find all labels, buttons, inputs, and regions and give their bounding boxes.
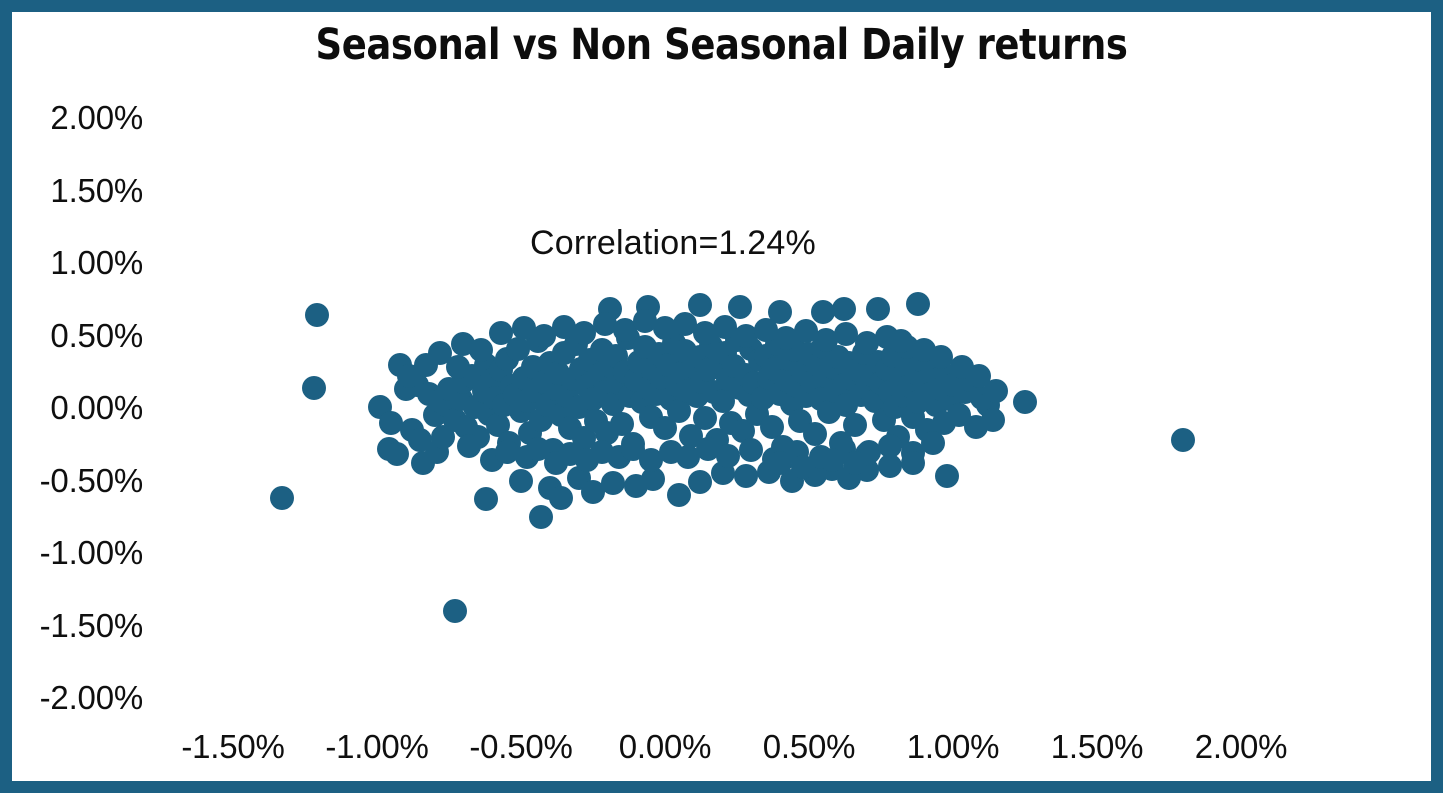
scatter-point xyxy=(518,421,542,445)
scatter-point xyxy=(809,445,833,469)
scatter-point xyxy=(497,431,521,455)
scatter-point xyxy=(569,357,593,381)
correlation-annotation: Correlation=1.24% xyxy=(530,224,816,263)
scatter-point xyxy=(561,367,585,391)
page-title: Seasonal vs Non Seasonal Daily returns xyxy=(111,20,1331,70)
scatter-point xyxy=(935,364,959,388)
scatter-point xyxy=(492,393,516,417)
scatter-point xyxy=(474,487,498,511)
scatter-point xyxy=(791,455,815,479)
scatter-point xyxy=(616,326,640,350)
scatter-point xyxy=(820,448,844,472)
scatter-point xyxy=(780,392,804,416)
scatter-point xyxy=(512,366,536,390)
scatter-point xyxy=(722,354,746,378)
scatter-point xyxy=(428,341,452,365)
scatter-point xyxy=(734,324,758,348)
scatter-point xyxy=(892,384,916,408)
scatter-point xyxy=(379,411,403,435)
scatter-point xyxy=(618,384,642,408)
scatter-point xyxy=(866,350,890,374)
scatter-point xyxy=(647,342,671,366)
scatter-point xyxy=(650,366,674,390)
scatter-point xyxy=(964,415,988,439)
scatter-point xyxy=(679,424,703,448)
scatter-point xyxy=(898,374,922,398)
scatter-point xyxy=(820,355,844,379)
scatter-point xyxy=(457,434,481,458)
scatter-point xyxy=(538,351,562,375)
scatter-point xyxy=(601,392,625,416)
scatter-point xyxy=(593,312,617,336)
scatter-point xyxy=(809,387,833,411)
scatter-point xyxy=(535,393,559,417)
scatter-point xyxy=(886,425,910,449)
scatter-point xyxy=(581,480,605,504)
scatter-point xyxy=(385,442,409,466)
scatter-point xyxy=(549,403,573,427)
scatter-point xyxy=(621,437,645,461)
scatter-point xyxy=(483,386,507,410)
scatter-point xyxy=(682,355,706,379)
scatter-point xyxy=(777,347,801,371)
scatter-point xyxy=(1013,390,1037,414)
scatter-point xyxy=(716,444,740,468)
scatter-point xyxy=(521,355,545,379)
scatter-point xyxy=(480,448,504,472)
scatter-point xyxy=(644,382,668,406)
chart-page: Seasonal vs Non Seasonal Daily returns C… xyxy=(0,0,1443,793)
scatter-point xyxy=(526,437,550,461)
scatter-point xyxy=(423,403,447,427)
scatter-point xyxy=(719,411,743,435)
scatter-point xyxy=(921,431,945,455)
scatter-point xyxy=(904,361,928,385)
scatter-point xyxy=(734,464,758,488)
scatter-point xyxy=(855,331,879,355)
scatter-point xyxy=(408,428,432,452)
scatter-point xyxy=(757,460,781,484)
scatter-point xyxy=(397,364,421,388)
scatter-point xyxy=(532,370,556,394)
scatter-point xyxy=(633,309,657,333)
scatter-point xyxy=(480,368,504,392)
scatter-point xyxy=(929,345,953,369)
y-axis-tick-label: 0.00% xyxy=(50,389,143,427)
scatter-point xyxy=(662,331,686,355)
scatter-point xyxy=(901,451,925,475)
scatter-point xyxy=(656,353,680,377)
scatter-point xyxy=(765,332,789,356)
scatter-point xyxy=(901,405,925,429)
scatter-point xyxy=(716,367,740,391)
scatter-point xyxy=(713,341,737,365)
scatter-point xyxy=(549,486,573,510)
scatter-point xyxy=(633,335,657,359)
scatter-point xyxy=(837,351,861,375)
x-axis-tick-label: -0.50% xyxy=(469,728,572,766)
scatter-point xyxy=(515,389,539,413)
scatter-point xyxy=(823,379,847,403)
scatter-point xyxy=(449,387,473,411)
scatter-point xyxy=(639,448,663,472)
scatter-point xyxy=(832,373,856,397)
scatter-point xyxy=(466,425,490,449)
scatter-point xyxy=(469,338,493,362)
scatter-point xyxy=(771,435,795,459)
scatter-point xyxy=(829,431,853,455)
scatter-point xyxy=(693,406,717,430)
scatter-point xyxy=(814,328,838,352)
scatter-point xyxy=(598,297,622,321)
scatter-point xyxy=(460,364,484,388)
scatter-point xyxy=(1171,428,1195,452)
y-axis-tick-label: -0.50% xyxy=(40,462,143,500)
scatter-point xyxy=(734,363,758,387)
scatter-point xyxy=(607,371,631,395)
scatter-point xyxy=(889,329,913,353)
scatter-point xyxy=(405,373,429,397)
scatter-point xyxy=(302,376,326,400)
scatter-point xyxy=(523,379,547,403)
x-axis-tick-label: 0.00% xyxy=(619,728,712,766)
scatter-point xyxy=(762,447,786,471)
scatter-point xyxy=(567,395,591,419)
scatter-point xyxy=(932,411,956,435)
scatter-point xyxy=(785,440,809,464)
scatter-point xyxy=(575,374,599,398)
scatter-point xyxy=(673,312,697,336)
scatter-point xyxy=(552,315,576,339)
scatter-point xyxy=(760,415,784,439)
scatter-point xyxy=(742,371,766,395)
scatter-point xyxy=(820,457,844,481)
scatter-point xyxy=(454,415,478,439)
scatter-point xyxy=(976,393,1000,417)
scatter-point xyxy=(725,328,749,352)
scatter-point xyxy=(826,345,850,369)
scatter-point xyxy=(604,344,628,368)
scatter-point xyxy=(924,393,948,417)
scatter-point xyxy=(443,599,467,623)
scatter-point xyxy=(863,389,887,413)
scatter-point xyxy=(708,351,732,375)
scatter-point xyxy=(693,321,717,345)
scatter-point xyxy=(878,454,902,478)
scatter-point xyxy=(567,466,591,490)
scatter-point xyxy=(843,413,867,437)
chart-plate: Seasonal vs Non Seasonal Daily returns C… xyxy=(12,12,1431,781)
scatter-point xyxy=(512,316,536,340)
scatter-point xyxy=(739,438,763,462)
scatter-point xyxy=(690,370,714,394)
scatter-point xyxy=(953,380,977,404)
scatter-point xyxy=(495,347,519,371)
scatter-point xyxy=(685,384,709,408)
scatter-point xyxy=(500,374,524,398)
scatter-point xyxy=(434,393,458,417)
scatter-point xyxy=(665,373,689,397)
scatter-point xyxy=(803,422,827,446)
scatter-point xyxy=(855,376,879,400)
scatter-point xyxy=(906,390,930,414)
scatter-point xyxy=(305,303,329,327)
scatter-point xyxy=(394,377,418,401)
scatter-point xyxy=(840,367,864,391)
scatter-point xyxy=(834,393,858,417)
scatter-point xyxy=(889,366,913,390)
scatter-point xyxy=(636,295,660,319)
x-axis-tick-label: -1.50% xyxy=(181,728,284,766)
y-axis-tick-label: -2.00% xyxy=(40,679,143,717)
scatter-point xyxy=(702,380,726,404)
scatter-point xyxy=(572,321,596,345)
scatter-point xyxy=(981,408,1005,432)
scatter-point xyxy=(912,338,936,362)
scatter-point xyxy=(711,389,735,413)
scatter-point xyxy=(489,321,513,345)
scatter-point xyxy=(754,318,778,342)
scatter-point xyxy=(411,451,435,475)
scatter-point xyxy=(832,437,856,461)
scatter-point xyxy=(768,300,792,324)
scatter-point xyxy=(800,370,824,394)
scatter-point xyxy=(909,348,933,372)
scatter-point xyxy=(927,367,951,391)
scatter-point xyxy=(947,403,971,427)
scatter-point xyxy=(587,363,611,387)
scatter-point xyxy=(958,368,982,392)
scatter-point xyxy=(558,442,582,466)
scatter-point xyxy=(474,353,498,377)
scatter-point xyxy=(872,408,896,432)
y-axis-tick-label: 1.50% xyxy=(50,172,143,210)
scatter-point xyxy=(918,382,942,406)
scatter-point xyxy=(912,370,936,394)
scatter-point xyxy=(843,451,867,475)
x-axis-tick-label: 1.00% xyxy=(907,728,1000,766)
scatter-point xyxy=(532,324,556,348)
scatter-point xyxy=(495,440,519,464)
scatter-point xyxy=(613,360,637,384)
scatter-point xyxy=(915,418,939,442)
scatter-point xyxy=(400,418,424,442)
scatter-point xyxy=(688,345,712,369)
scatter-point xyxy=(572,426,596,450)
scatter-point xyxy=(791,360,815,384)
scatter-point xyxy=(921,358,945,382)
scatter-point xyxy=(866,297,890,321)
scatter-point xyxy=(745,402,769,426)
scatter-point xyxy=(906,292,930,316)
scatter-point xyxy=(472,379,496,403)
scatter-point xyxy=(575,448,599,472)
x-axis-tick-label: 1.50% xyxy=(1051,728,1144,766)
scatter-point xyxy=(590,338,614,362)
scatter-point xyxy=(970,386,994,410)
scatter-point xyxy=(713,315,737,339)
scatter-point xyxy=(869,371,893,395)
scatter-point xyxy=(846,358,870,382)
scatter-point xyxy=(443,408,467,432)
scatter-point xyxy=(811,300,835,324)
scatter-point xyxy=(895,354,919,378)
scatter-point xyxy=(509,399,533,423)
scatter-point xyxy=(584,409,608,433)
scatter-plot-area xyxy=(12,12,1431,781)
scatter-point xyxy=(595,421,619,445)
scatter-point xyxy=(696,358,720,382)
scatter-point xyxy=(783,338,807,362)
scatter-point xyxy=(901,441,925,465)
scatter-point xyxy=(653,316,677,340)
scatter-point xyxy=(728,376,752,400)
scatter-point xyxy=(581,387,605,411)
scatter-point xyxy=(785,374,809,398)
scatter-point xyxy=(446,355,470,379)
scatter-point xyxy=(564,332,588,356)
x-axis-tick-label: 0.50% xyxy=(763,728,856,766)
scatter-point xyxy=(613,318,637,342)
scatter-point xyxy=(855,442,879,466)
scatter-point xyxy=(541,438,565,462)
scatter-point xyxy=(688,470,712,494)
scatter-point xyxy=(803,463,827,487)
scatter-point xyxy=(855,458,879,482)
scatter-point xyxy=(590,440,614,464)
scatter-point xyxy=(641,357,665,381)
scatter-point xyxy=(598,354,622,378)
scatter-point xyxy=(653,416,677,440)
scatter-point xyxy=(739,337,763,361)
scatter-point xyxy=(463,395,487,419)
scatter-point xyxy=(659,387,683,411)
scatter-point xyxy=(388,353,412,377)
scatter-point xyxy=(780,469,804,493)
scatter-point xyxy=(601,471,625,495)
scatter-point xyxy=(768,451,792,475)
scatter-point xyxy=(607,445,631,469)
scatter-point xyxy=(938,387,962,411)
scatter-point xyxy=(797,342,821,366)
scatter-point xyxy=(437,377,461,401)
scatter-point xyxy=(878,434,902,458)
scatter-point xyxy=(728,295,752,319)
scatter-point xyxy=(875,357,899,381)
scatter-point xyxy=(762,357,786,381)
scatter-point xyxy=(546,361,570,385)
scatter-point xyxy=(558,416,582,440)
y-axis-tick-label: -1.50% xyxy=(40,607,143,645)
scatter-point xyxy=(667,483,691,507)
scatter-point xyxy=(895,335,919,359)
scatter-point xyxy=(544,377,568,401)
scatter-point xyxy=(624,368,648,392)
scatter-point xyxy=(593,380,617,404)
scatter-point xyxy=(659,440,683,464)
scatter-point xyxy=(667,399,691,423)
x-axis-tick-label: -1.00% xyxy=(325,728,428,766)
scatter-point xyxy=(621,432,645,456)
x-axis-tick-label: 2.00% xyxy=(1195,728,1288,766)
scatter-point xyxy=(857,440,881,464)
scatter-point xyxy=(630,390,654,414)
scatter-point xyxy=(860,363,884,387)
scatter-point xyxy=(699,334,723,358)
scatter-point xyxy=(834,322,858,346)
scatter-point xyxy=(552,341,576,365)
scatter-point xyxy=(529,505,553,529)
scatter-point xyxy=(515,445,539,469)
scatter-point xyxy=(670,361,694,385)
scatter-point xyxy=(624,474,648,498)
scatter-point xyxy=(852,341,876,365)
scatter-point xyxy=(529,408,553,432)
scatter-point xyxy=(967,364,991,388)
scatter-point xyxy=(837,466,861,490)
scatter-point xyxy=(935,464,959,488)
scatter-point xyxy=(509,469,533,493)
scatter-point xyxy=(711,461,735,485)
scatter-point xyxy=(676,379,700,403)
scatter-point xyxy=(636,376,660,400)
scatter-point xyxy=(814,364,838,388)
scatter-point xyxy=(737,383,761,407)
scatter-point xyxy=(489,358,513,382)
scatter-point xyxy=(368,395,392,419)
scatter-point xyxy=(774,326,798,350)
scatter-point xyxy=(477,402,501,426)
scatter-point xyxy=(610,412,634,436)
scatter-point xyxy=(538,476,562,500)
scatter-point xyxy=(451,332,475,356)
scatter-point xyxy=(788,409,812,433)
scatter-point xyxy=(849,383,873,407)
scatter-point xyxy=(526,329,550,353)
scatter-point xyxy=(673,339,697,363)
scatter-point xyxy=(428,389,452,413)
y-axis-tick-label: 2.00% xyxy=(50,99,143,137)
scatter-point xyxy=(544,451,568,475)
scatter-point xyxy=(705,428,729,452)
scatter-point xyxy=(881,344,905,368)
scatter-point xyxy=(806,353,830,377)
scatter-point xyxy=(929,377,953,401)
scatter-point xyxy=(639,405,663,429)
scatter-point xyxy=(627,350,651,374)
scatter-point xyxy=(768,382,792,406)
scatter-point xyxy=(414,353,438,377)
scatter-point xyxy=(417,382,441,406)
scatter-point xyxy=(696,437,720,461)
y-axis-tick-label: -1.00% xyxy=(40,534,143,572)
scatter-point xyxy=(878,380,902,404)
scatter-point xyxy=(794,319,818,343)
scatter-point xyxy=(431,425,455,449)
scatter-point xyxy=(832,297,856,321)
scatter-point xyxy=(555,384,579,408)
scatter-point xyxy=(811,335,835,359)
scatter-point xyxy=(270,486,294,510)
scatter-point xyxy=(794,384,818,408)
y-axis-tick-label: 0.50% xyxy=(50,317,143,355)
scatter-point xyxy=(641,467,665,491)
y-axis-tick-label: 1.00% xyxy=(50,244,143,282)
scatter-point xyxy=(425,440,449,464)
scatter-point xyxy=(984,379,1008,403)
scatter-point xyxy=(883,395,907,419)
scatter-point xyxy=(451,370,475,394)
